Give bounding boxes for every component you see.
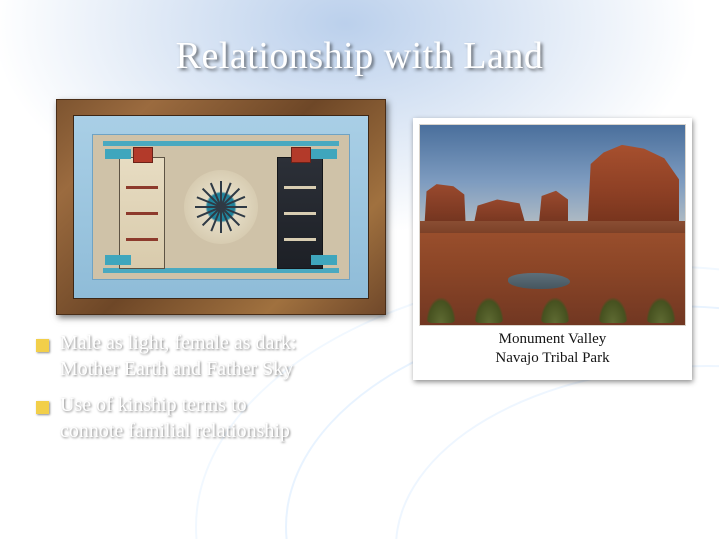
bullet-text: Use of kinship terms to connote familial… bbox=[60, 392, 290, 444]
slide: Relationship with Land bbox=[0, 0, 719, 539]
sandpainting-figure-band bbox=[126, 238, 158, 241]
sandpainting-figure-head bbox=[133, 147, 153, 163]
sandpainting-artwork bbox=[56, 99, 386, 315]
photo-far-mesa bbox=[420, 221, 685, 233]
sandpainting-corner-motif bbox=[311, 149, 337, 159]
sandpainting-corner-motif bbox=[311, 255, 337, 265]
list-item: Use of kinship terms to connote familial… bbox=[36, 392, 408, 444]
sandpainting-figure-band bbox=[126, 212, 158, 215]
sandpainting-figure-head bbox=[291, 147, 311, 163]
photo-caption: Monument Valley Navajo Tribal Park bbox=[419, 330, 686, 368]
background-swoosh-2 bbox=[395, 365, 719, 539]
photo-brush bbox=[474, 297, 504, 323]
sandpainting-corner-motif bbox=[105, 255, 131, 265]
bullet-square-icon bbox=[36, 339, 49, 352]
bullet-list: Male as light, female as dark: Mother Ea… bbox=[36, 330, 408, 454]
sandpainting-figure-band bbox=[284, 186, 316, 189]
sandpainting-figure-light bbox=[119, 157, 165, 269]
artwork-plate bbox=[92, 134, 350, 280]
sandpainting-figure-band bbox=[284, 238, 316, 241]
sandpainting-figure-dark bbox=[277, 157, 323, 269]
sandpainting-figure-band bbox=[284, 212, 316, 215]
bullet-line-2: Mother Earth and Father Sky bbox=[60, 356, 297, 382]
photo-water-pool bbox=[508, 273, 570, 289]
list-item: Male as light, female as dark: Mother Ea… bbox=[36, 330, 408, 382]
photo-caption-line-1: Monument Valley bbox=[419, 330, 686, 349]
monument-valley-photo-card: Monument Valley Navajo Tribal Park bbox=[413, 118, 692, 380]
bullet-square-icon bbox=[36, 401, 49, 414]
bullet-line-2: connote familial relationship bbox=[60, 418, 290, 444]
photo-brush bbox=[540, 297, 570, 323]
sandpainting-top-band bbox=[103, 141, 339, 146]
photo-caption-line-2: Navajo Tribal Park bbox=[419, 349, 686, 368]
photo-brush bbox=[426, 297, 456, 323]
monument-valley-photo bbox=[419, 124, 686, 326]
photo-brush bbox=[598, 297, 628, 323]
bullet-text: Male as light, female as dark: Mother Ea… bbox=[60, 330, 297, 382]
slide-title: Relationship with Land bbox=[0, 34, 719, 78]
photo-brush bbox=[646, 297, 676, 323]
bullet-line-1: Use of kinship terms to bbox=[60, 392, 290, 418]
artwork-frame-inner bbox=[73, 115, 369, 299]
bullet-line-1: Male as light, female as dark: bbox=[60, 330, 297, 356]
sandpainting-figure-band bbox=[126, 186, 158, 189]
sandpainting-corner-motif bbox=[105, 149, 131, 159]
